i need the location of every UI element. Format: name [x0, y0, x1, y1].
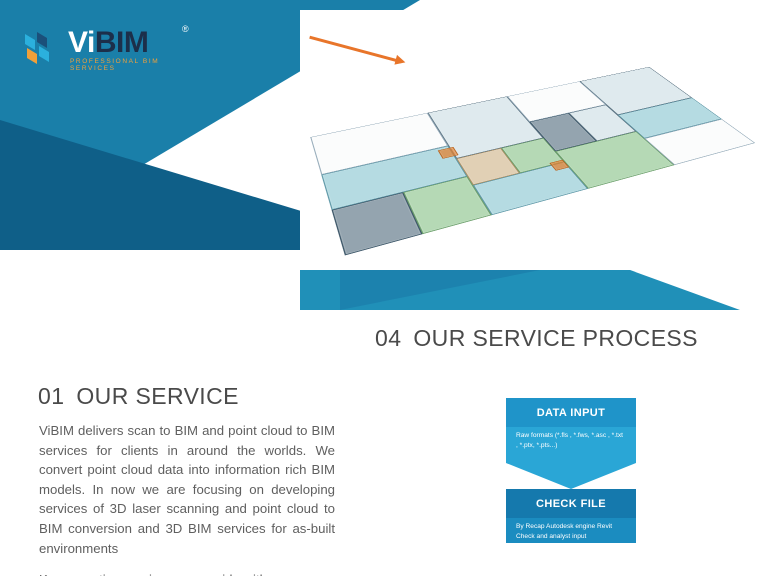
logo-tagline: PROFESSIONAL BIM SERVICES — [70, 58, 202, 72]
flow-step-body: Raw formats (*.fls , *.fws, *.asc , *.tx… — [506, 427, 636, 463]
section-number-process: 04 — [375, 325, 401, 351]
vibim-logo-icon — [22, 28, 62, 68]
section-title-process: OUR SERVICE PROCESS — [413, 325, 698, 351]
logo-wordmark: ViBIM — [68, 26, 148, 60]
section-heading-process: 04OUR SERVICE PROCESS — [375, 325, 698, 352]
page-title: SCAN TO BIM — [40, 250, 258, 288]
service-paragraph: ViBIM delivers scan to BIM and point clo… — [39, 421, 335, 558]
process-flow: DATA INPUT Raw formats (*.fls , *.fws, *… — [506, 398, 636, 543]
vibim-logo[interactable]: ViBIM ® PROFESSIONAL BIM SERVICES — [22, 24, 202, 80]
section-heading-service: 01OUR SERVICE — [38, 383, 239, 410]
registered-mark: ® — [182, 24, 189, 34]
section-number-service: 01 — [38, 383, 64, 409]
slide-canvas: ViBIM ® PROFESSIONAL BIM SERVICES SCAN T… — [0, 0, 768, 576]
logo-vi: Vi — [68, 26, 95, 59]
service-paragraph-continued: Key operating services we provide with o… — [39, 570, 335, 576]
flow-step-body: By Recap Autodesk engine Revit Check and… — [506, 518, 636, 543]
flow-step-data-input[interactable]: DATA INPUT Raw formats (*.fls , *.fws, *… — [506, 398, 636, 489]
point-cloud-image — [300, 10, 755, 270]
flow-step-title: CHECK FILE — [506, 489, 636, 518]
flow-step-check-file[interactable]: CHECK FILE By Recap Autodesk engine Revi… — [506, 489, 636, 543]
section-title-service: OUR SERVICE — [76, 383, 238, 409]
logo-bim: BIM — [95, 26, 149, 59]
page-subtitle: SERVICE BROCHURE — [40, 298, 271, 324]
flow-arrow-icon — [506, 463, 636, 489]
flow-step-title: DATA INPUT — [506, 398, 636, 427]
